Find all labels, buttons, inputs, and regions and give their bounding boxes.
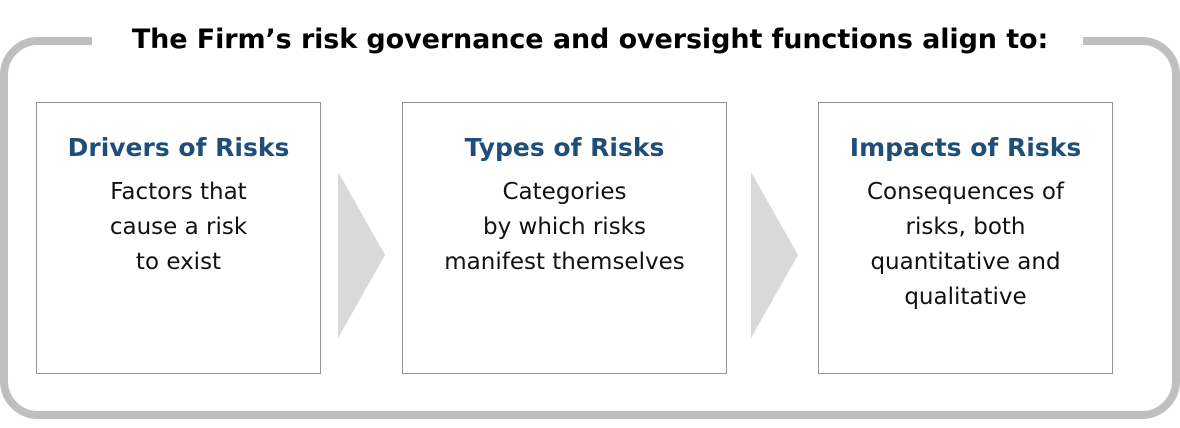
stage-box-types-of-risks[interactable]: Types of Risks Categories by which risks…	[402, 102, 727, 374]
stage-body-line: Consequences of	[823, 175, 1108, 210]
stage-body-line: qualitative	[823, 280, 1108, 315]
stage-body-line: Categories	[407, 175, 722, 210]
stage-body-line: risks, both	[823, 210, 1108, 245]
stage-body-line: manifest themselves	[407, 245, 722, 280]
stage-box-drivers-of-risks[interactable]: Drivers of Risks Factors that cause a ri…	[36, 102, 321, 374]
stage-box-impacts-of-risks[interactable]: Impacts of Risks Consequences of risks, …	[818, 102, 1113, 374]
stage-body-drivers-of-risks: Factors that cause a risk to exist	[37, 175, 320, 280]
stage-body-line: by which risks	[407, 210, 722, 245]
diagram-title: The Firm’s risk governance and oversight…	[0, 24, 1180, 56]
diagram-canvas: The Firm’s risk governance and oversight…	[0, 0, 1180, 428]
arrow-types-to-impacts	[748, 170, 800, 340]
stage-heading-types-of-risks: Types of Risks	[403, 133, 726, 163]
stage-heading-impacts-of-risks: Impacts of Risks	[819, 133, 1112, 163]
stage-body-line: Factors that	[41, 175, 316, 210]
stage-heading-drivers-of-risks: Drivers of Risks	[37, 133, 320, 163]
stage-body-line: cause a risk	[41, 210, 316, 245]
arrow-drivers-to-types	[335, 170, 387, 340]
stage-body-types-of-risks: Categories by which risks manifest thems…	[403, 175, 726, 280]
stage-body-line: quantitative and	[823, 245, 1108, 280]
stage-body-impacts-of-risks: Consequences of risks, both quantitative…	[819, 175, 1112, 315]
stage-body-line: to exist	[41, 245, 316, 280]
